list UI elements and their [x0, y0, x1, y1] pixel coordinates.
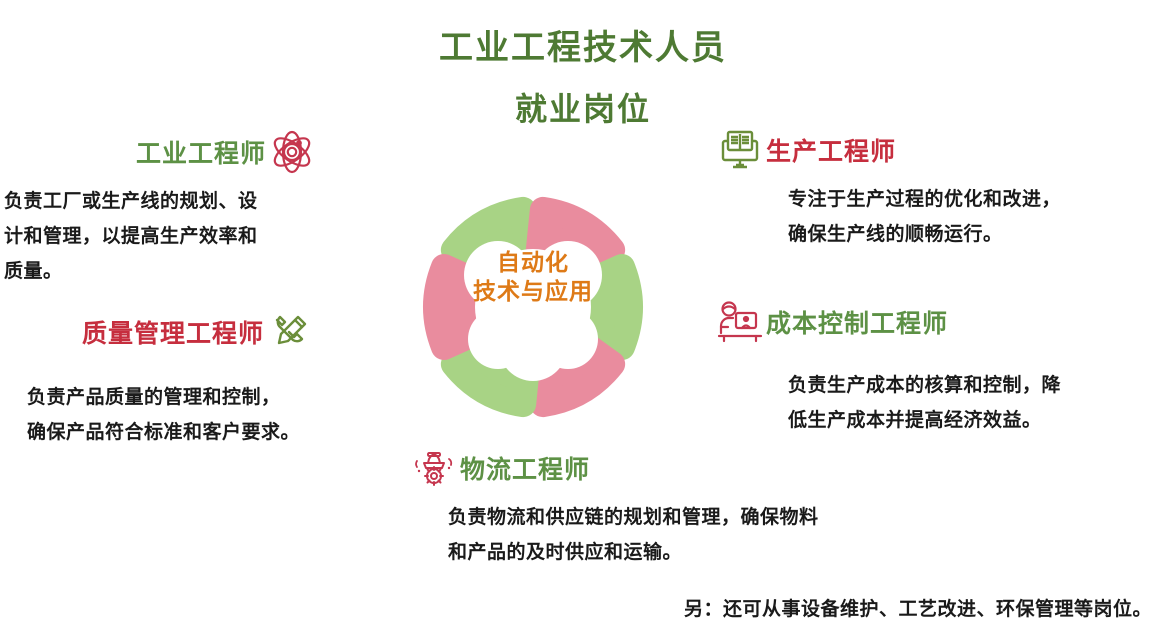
- job-block-quality-engineer: 质量管理工程师 负责产品质量的管理和控制， 确保产品符合标准和客户要求。: [0, 306, 316, 450]
- job-title-production: 生产工程师: [766, 132, 896, 168]
- job-desc-line: 专注于生产过程的优化和改进，: [788, 182, 1154, 217]
- job-desc-line: 确保生产线的顺畅运行。: [788, 217, 1154, 252]
- atom-icon: [266, 126, 318, 178]
- job-desc-line: 低生产成本并提高经济效益。: [788, 403, 1164, 438]
- donut-wheel: [393, 152, 673, 462]
- job-desc-logistics: 负责物流和供应链的规划和管理，确保物料 和产品的及时供应和运输。: [408, 500, 1108, 570]
- gear-robot-icon: [408, 442, 460, 494]
- job-title-cost: 成本控制工程师: [766, 304, 948, 340]
- job-header-industrial: 工业工程师: [0, 126, 318, 178]
- job-desc-production: 专注于生产过程的优化和改进， 确保生产线的顺畅运行。: [714, 182, 1154, 252]
- wrench-pencil-icon: [264, 306, 316, 358]
- job-desc-line: 确保产品符合标准和客户要求。: [27, 415, 316, 450]
- job-header-logistics: 物流工程师: [408, 442, 1108, 494]
- job-desc-quality: 负责产品质量的管理和控制， 确保产品符合标准和客户要求。: [0, 380, 316, 450]
- job-desc-line: 计和管理，以提高生产效率和: [4, 219, 318, 254]
- job-block-logistics-engineer: 物流工程师 负责物流和供应链的规划和管理，确保物料 和产品的及时供应和运输。: [408, 442, 1108, 570]
- job-header-quality: 质量管理工程师: [0, 306, 316, 358]
- job-desc-line: 质量。: [4, 254, 318, 289]
- job-block-cost-engineer: 成本控制工程师 负责生产成本的核算和控制，降 低生产成本并提高经济效益。: [714, 296, 1164, 438]
- page-title-line1: 工业工程技术人员: [0, 20, 1166, 69]
- job-desc-line: 负责生产成本的核算和控制，降: [788, 368, 1164, 403]
- job-title-logistics: 物流工程师: [460, 450, 590, 486]
- job-desc-line: 负责产品质量的管理和控制，: [27, 380, 316, 415]
- job-desc-industrial: 负责工厂或生产线的规划、设 计和管理，以提高生产效率和 质量。: [0, 184, 318, 289]
- job-desc-line: 和产品的及时供应和运输。: [448, 535, 1108, 570]
- job-title-quality: 质量管理工程师: [82, 314, 264, 350]
- job-header-cost: 成本控制工程师: [714, 296, 1164, 348]
- job-block-production-engineer: 生产工程师 专注于生产过程的优化和改进， 确保生产线的顺畅运行。: [714, 124, 1154, 252]
- job-header-production: 生产工程师: [714, 124, 1154, 176]
- footer-note: 另：还可从事设备维护、工艺改进、环保管理等岗位。: [0, 594, 1152, 621]
- wheel-inner-hub: [464, 241, 602, 381]
- job-desc-cost: 负责生产成本的核算和控制，降 低生产成本并提高经济效益。: [714, 368, 1164, 438]
- job-block-industrial-engineer: 工业工程师 负责工厂或生产线的规划、设 计和管理，以提高生产效率和 质量。: [0, 126, 318, 289]
- job-desc-line: 负责物流和供应链的规划和管理，确保物料: [448, 500, 1108, 535]
- person-computer-icon: [714, 296, 766, 348]
- monitor-book-icon: [714, 124, 766, 176]
- job-desc-line: 负责工厂或生产线的规划、设: [4, 184, 318, 219]
- job-title-industrial: 工业工程师: [136, 134, 266, 170]
